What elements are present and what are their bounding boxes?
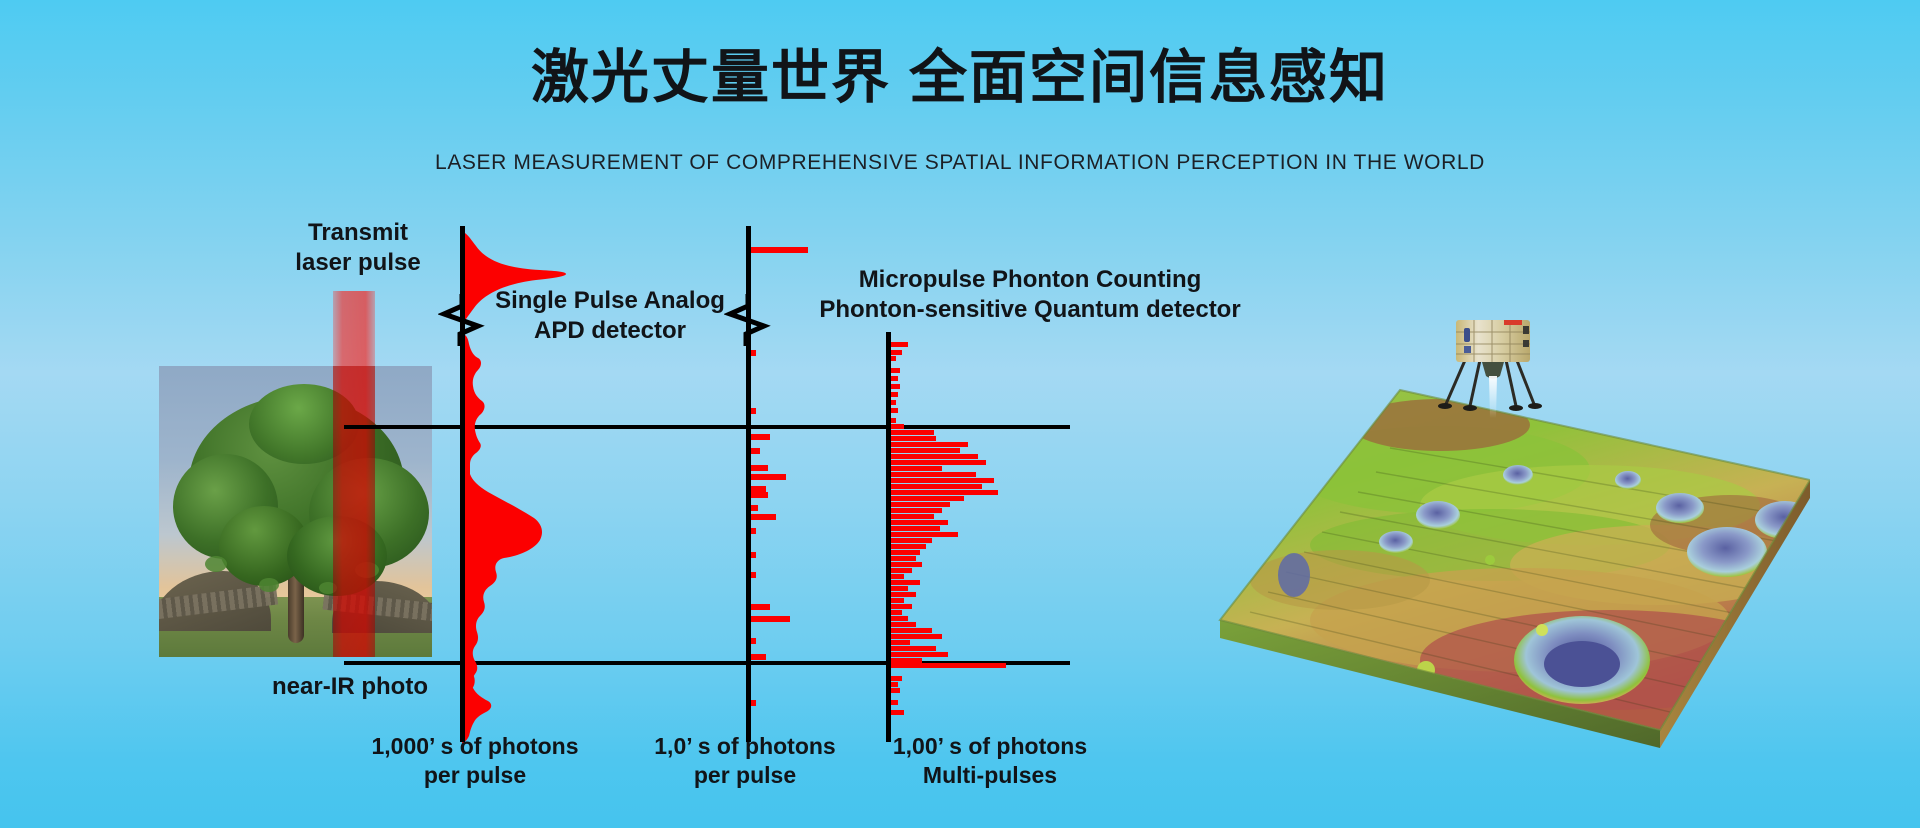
lunar-lander xyxy=(1430,318,1560,428)
waveform-bar xyxy=(886,454,978,459)
near-ir-tree-photo xyxy=(159,366,432,657)
waveform-bar xyxy=(886,580,920,585)
waveform-bar xyxy=(746,474,786,480)
waveform-bar xyxy=(886,514,934,519)
crater xyxy=(1615,471,1641,489)
waveform-bar xyxy=(886,478,994,483)
crater xyxy=(1687,527,1767,577)
crater xyxy=(1379,531,1413,553)
laser-beam-overlay xyxy=(333,366,375,657)
page-subtitle: LASER MEASUREMENT OF COMPREHENSIVE SPATI… xyxy=(0,151,1920,175)
engine-plume xyxy=(1489,376,1497,418)
lander-instrument xyxy=(1464,346,1471,353)
crater xyxy=(1278,553,1310,597)
waveform-bar xyxy=(886,496,964,501)
crater xyxy=(1656,493,1704,523)
waveform-bar xyxy=(886,544,926,549)
waveform-bar xyxy=(886,442,968,447)
waveform-bar xyxy=(886,460,986,465)
waveform-bar xyxy=(886,550,920,555)
waveform-bar xyxy=(886,466,942,471)
waveform-bar xyxy=(746,247,808,253)
waveform-bar xyxy=(886,430,934,435)
lander-instrument xyxy=(1464,328,1470,342)
waveform-bar xyxy=(886,532,958,537)
waveform-bar xyxy=(886,658,922,663)
lander-flag xyxy=(1504,320,1522,325)
axis-break-icon-2 xyxy=(724,292,772,348)
waveform-bar xyxy=(886,526,940,531)
waveform-bar xyxy=(886,562,922,567)
waveform-bar xyxy=(886,472,976,477)
near-ir-photo-label: near-IR photo xyxy=(210,672,490,702)
waveform-bar xyxy=(886,634,942,639)
waveform-bar xyxy=(886,663,1006,668)
terrain-surface xyxy=(1220,390,1810,730)
waveform-3-axis xyxy=(886,332,891,742)
waveform-bar xyxy=(886,652,948,657)
waveform-micropulse-dense xyxy=(886,330,1086,750)
waveform-bar xyxy=(886,502,950,507)
waveform-3-svg xyxy=(886,330,1086,750)
waveform-bar xyxy=(886,490,998,495)
waveform-bar xyxy=(746,616,790,622)
poster-canvas: 激光丈量世界 全面空间信息感知 LASER MEASUREMENT OF COM… xyxy=(0,0,1920,828)
waveform-bar xyxy=(886,646,936,651)
axis-break-icon-1 xyxy=(438,292,486,348)
crater xyxy=(1503,465,1533,485)
waveform-bar xyxy=(886,538,932,543)
crater xyxy=(1416,501,1460,529)
transmit-laser-pulse-label: Transmit laser pulse xyxy=(258,218,458,278)
waveform-bar xyxy=(886,628,932,633)
photo-foliage xyxy=(259,578,279,592)
lander-instrument xyxy=(1523,326,1529,334)
lander-instrument xyxy=(1523,340,1529,347)
waveform-bar xyxy=(886,436,936,441)
waveform-bar xyxy=(886,508,942,513)
waveform-bar xyxy=(886,520,948,525)
waveform-bar xyxy=(886,484,982,489)
page-title: 激光丈量世界 全面空间信息感知 xyxy=(0,46,1920,110)
photo-foliage xyxy=(205,556,227,572)
waveform-bar xyxy=(886,448,960,453)
